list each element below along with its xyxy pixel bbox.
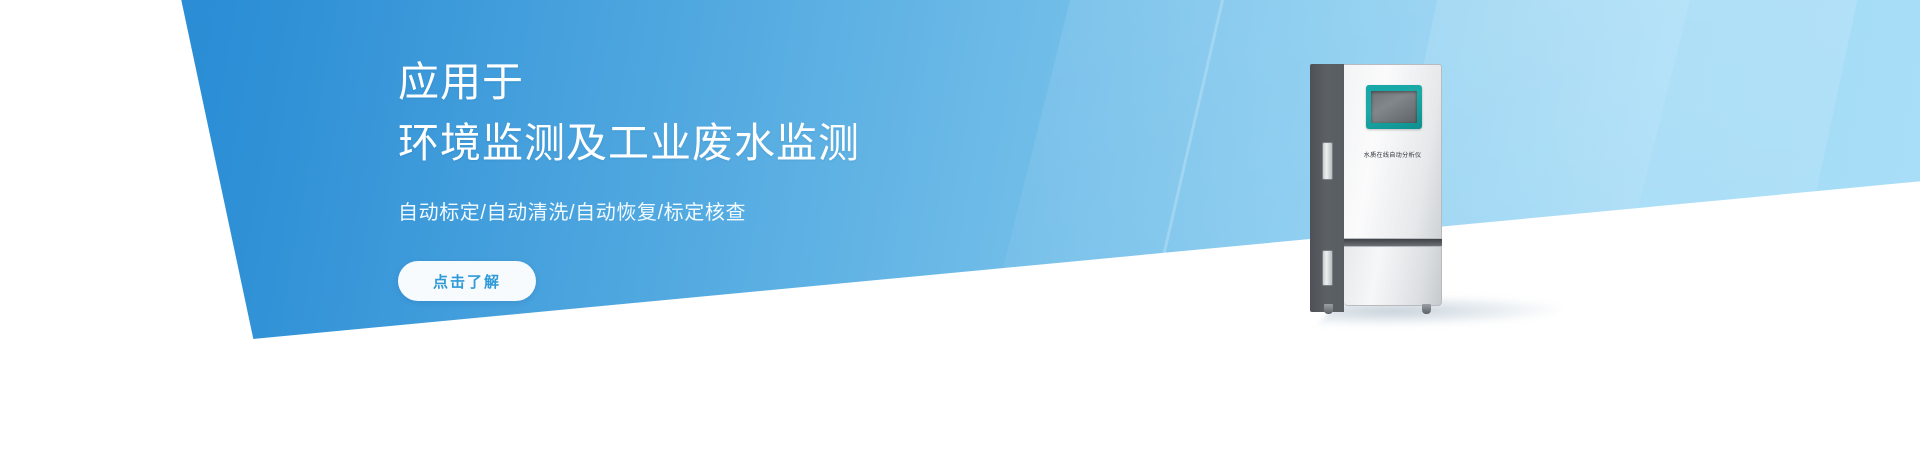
hero-banner: 应用于 环境监测及工业废水监测 自动标定/自动清洗/自动恢复/标定核查 点击了解… — [0, 0, 1920, 450]
caster-wheel-icon-right — [1422, 304, 1431, 314]
door-handle-icon-lower — [1322, 250, 1333, 286]
display-icon — [1366, 85, 1422, 129]
caster-wheel-icon-left — [1324, 304, 1333, 314]
cabinet-upper-door: 水质在线自动分析仪 — [1344, 64, 1442, 239]
door-handle-icon-upper — [1322, 142, 1333, 180]
cabinet-lower-compartment — [1344, 246, 1442, 306]
display-screen-surface — [1371, 91, 1417, 123]
hero-headline: 应用于 环境监测及工业废水监测 — [398, 52, 1158, 173]
hero-headline-line-1: 应用于 — [398, 59, 524, 105]
hero-copy-block: 应用于 环境监测及工业废水监测 自动标定/自动清洗/自动恢复/标定核查 点击了解 — [398, 52, 1158, 301]
hero-subline: 自动标定/自动清洗/自动恢复/标定核查 — [398, 199, 1158, 227]
hero-headline-line-2: 环境监测及工业废水监测 — [398, 113, 1158, 174]
cabinet-divider — [1344, 239, 1442, 246]
learn-more-button[interactable]: 点击了解 — [398, 261, 536, 301]
product-name-label: 水质在线自动分析仪 — [1347, 149, 1438, 158]
product-image-water-quality-analyzer: 水质在线自动分析仪 — [1310, 64, 1442, 312]
cabinet-side-panel — [1310, 64, 1344, 312]
